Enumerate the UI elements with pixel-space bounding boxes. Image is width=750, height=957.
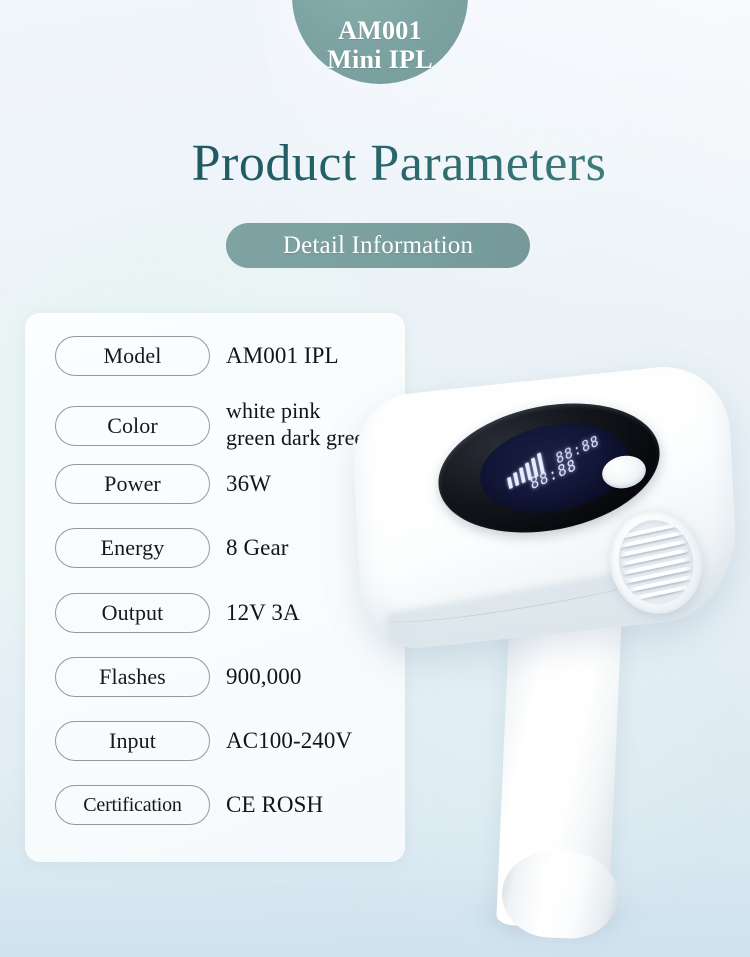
page-title: Product Parameters bbox=[0, 134, 750, 193]
spec-label-certification: Certification bbox=[55, 785, 210, 825]
spec-value-output: 12V 3A bbox=[226, 599, 300, 626]
spec-label-power: Power bbox=[55, 464, 210, 504]
subtitle-label: Detail Information bbox=[283, 232, 473, 260]
spec-value-flashes: 900,000 bbox=[226, 663, 301, 690]
vent-edge-mask bbox=[611, 513, 701, 611]
spec-label-output: Output bbox=[55, 593, 210, 633]
spec-value-energy: 8 Gear bbox=[226, 534, 289, 561]
model-badge-line-2: Mini IPL bbox=[327, 45, 433, 74]
vent-grille bbox=[611, 513, 701, 611]
spec-label-flashes: Flashes bbox=[55, 657, 210, 697]
product-image-ipl-device: 88:88 88:88 MD bbox=[352, 372, 750, 932]
spec-label-input: Input bbox=[55, 721, 210, 761]
model-badge-line-1: AM001 bbox=[338, 16, 422, 45]
specification-list: Model AM001 IPL Color white pink green d… bbox=[25, 313, 405, 862]
spec-value-power: 36W bbox=[226, 470, 271, 497]
spec-value-certification: CE ROSH bbox=[226, 791, 323, 818]
spec-value-input: AC100-240V bbox=[226, 727, 352, 754]
spec-label-color: Color bbox=[55, 406, 210, 446]
product-parameters-page: AM001 Mini IPL Product Parameters Detail… bbox=[0, 0, 750, 957]
spec-label-energy: Energy bbox=[55, 528, 210, 568]
spec-value-model: AM001 IPL bbox=[226, 342, 339, 369]
subtitle-pill: Detail Information bbox=[226, 223, 530, 268]
device-handle-glare bbox=[520, 842, 590, 902]
spec-row-model: Model AM001 IPL bbox=[55, 336, 405, 376]
spec-label-model: Model bbox=[55, 336, 210, 376]
